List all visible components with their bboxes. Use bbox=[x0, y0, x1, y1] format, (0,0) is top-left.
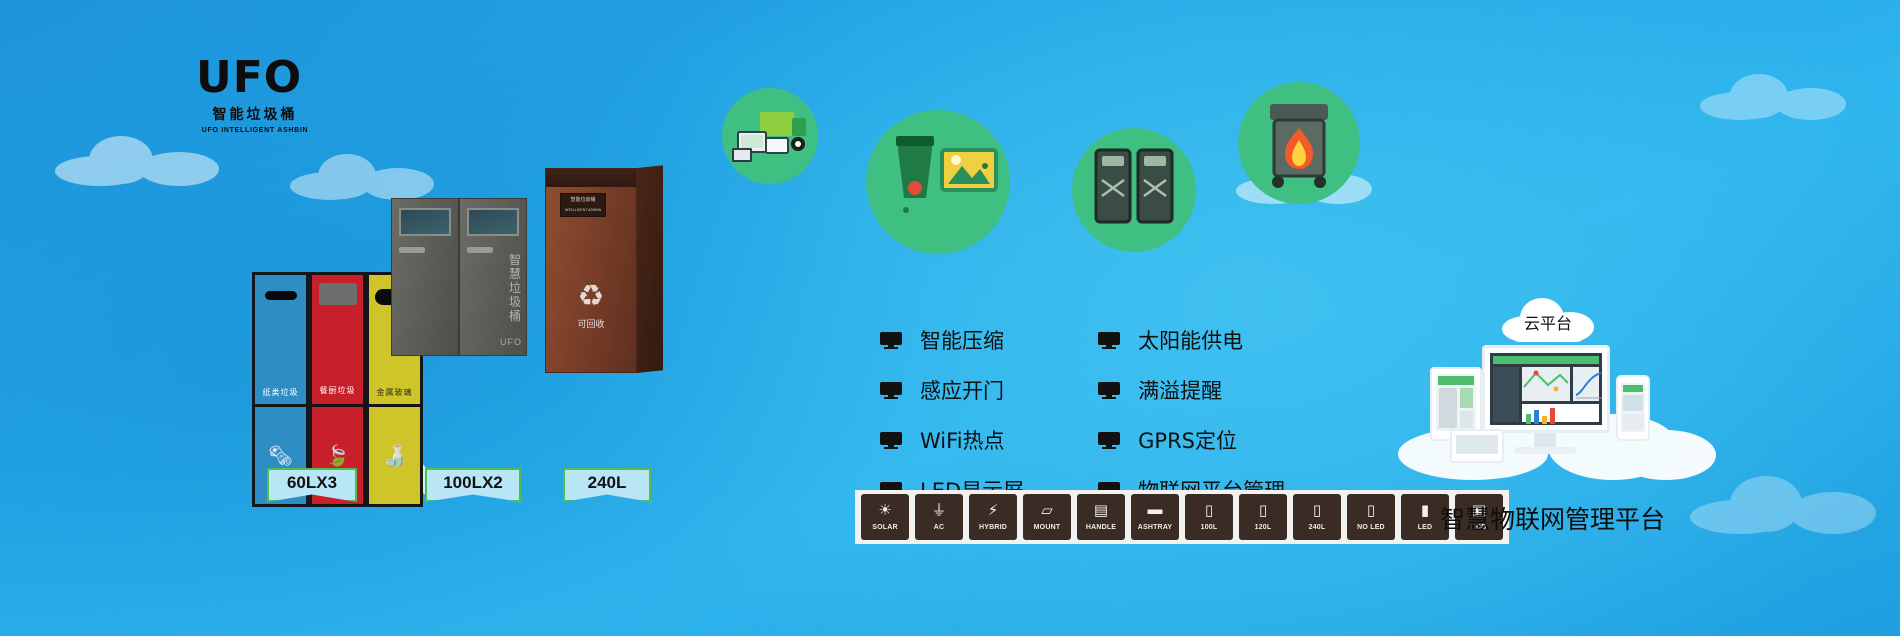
bin-body-metal-glass: 🍶 bbox=[366, 407, 423, 507]
bin-panel-label: 餐厨垃圾 bbox=[312, 385, 363, 396]
option-label: HANDLE bbox=[1086, 524, 1116, 531]
option-label: SOLAR bbox=[872, 524, 898, 531]
option-label: NO LED bbox=[1357, 524, 1385, 531]
metal-glass-icon: 🍶 bbox=[382, 443, 407, 468]
bin-unit-left bbox=[391, 198, 459, 356]
bolt-icon: ⚡ bbox=[976, 497, 1010, 522]
option-label: LED bbox=[1418, 524, 1433, 531]
bin-panel-label: 金属玻璃 bbox=[369, 387, 420, 398]
bin-gray-100lx2: 智慧垃圾桶 UFO bbox=[391, 198, 527, 356]
feature-circle-solar-compaction bbox=[866, 110, 1010, 254]
monitor-screen bbox=[1490, 353, 1602, 425]
bin-unit-right: 智慧垃圾桶 UFO bbox=[459, 198, 527, 356]
line-chart-thumbnail-icon bbox=[1573, 367, 1602, 401]
cloud-platform-badge: 云平台 bbox=[1502, 296, 1594, 342]
bin-vertical-label: 智慧垃圾桶 bbox=[508, 253, 522, 323]
bin-brand-mark: UFO bbox=[500, 337, 522, 347]
option-tile-ashtray[interactable]: ▬ ASHTRAY bbox=[1131, 494, 1179, 540]
bin-handle bbox=[467, 247, 493, 253]
option-tile-100l[interactable]: ▯ 100L bbox=[1185, 494, 1233, 540]
option-tile-solar[interactable]: ☀ SOLAR bbox=[861, 494, 909, 540]
monitor-icon bbox=[880, 432, 902, 449]
option-label: AC bbox=[934, 524, 945, 531]
feature-list: 智能压缩 感应开门 WiFi热点 LED显示屏 太阳能供电 满溢提醒 bbox=[880, 325, 1285, 505]
recycle-icon: ♻ bbox=[578, 279, 605, 314]
banner-stage: UFO 智能垃圾桶 UFO INTELLIGENT ASHBIN 纸类垃圾 🗞 … bbox=[0, 0, 1900, 636]
bin-100l-icon: ▯ bbox=[1192, 497, 1226, 522]
option-icon-strip: ☀ SOLAR ⏚ AC ⚡ HYBRID ▱ MOUNT ▤ HANDLE ▬… bbox=[855, 490, 1509, 544]
option-tile-no-led[interactable]: ▯ NO LED bbox=[1347, 494, 1395, 540]
no-led-icon: ▯ bbox=[1354, 497, 1388, 522]
bin-display-screen: 智能垃圾桶 INTELLIGENT ASHBIN bbox=[560, 193, 606, 217]
bin-body: 智能垃圾桶 INTELLIGENT ASHBIN ♻ 可回收 bbox=[545, 168, 637, 373]
screen-line-1: 智能垃圾桶 bbox=[561, 194, 605, 204]
logo-wordmark: UFO bbox=[196, 56, 302, 100]
sun-icon: ☀ bbox=[868, 497, 902, 522]
laptop-screen bbox=[1456, 435, 1498, 454]
brand-logo: UFO 智能垃圾桶 UFO INTELLIGENT ASHBIN bbox=[196, 56, 314, 148]
fire-bin-icon bbox=[1238, 82, 1360, 204]
feature-label: GPRS定位 bbox=[1138, 425, 1237, 455]
recycle-label: 可回收 bbox=[546, 317, 636, 330]
bin-panel-kitchen: 餐厨垃圾 bbox=[309, 272, 366, 407]
handle-icon: ▤ bbox=[1084, 497, 1118, 522]
option-label: ASHTRAY bbox=[1138, 524, 1173, 531]
platform-title: 智慧物联网管理平台 bbox=[1440, 500, 1665, 536]
monitor-icon bbox=[1098, 332, 1120, 349]
feature-column-left: 智能压缩 感应开门 WiFi热点 LED显示屏 bbox=[880, 325, 1024, 505]
laptop-bottom bbox=[1450, 429, 1504, 463]
monitor-icon bbox=[880, 382, 902, 399]
feature-item: 满溢提醒 bbox=[1098, 375, 1285, 405]
option-tile-120l[interactable]: ▯ 120L bbox=[1239, 494, 1287, 540]
monitor-icon bbox=[1098, 432, 1120, 449]
phone-right bbox=[1616, 375, 1650, 441]
bin-window bbox=[399, 208, 451, 236]
desktop-monitor bbox=[1482, 345, 1610, 433]
bin-lid bbox=[546, 169, 636, 187]
feature-label: 太阳能供电 bbox=[1138, 325, 1243, 355]
option-tile-hybrid[interactable]: ⚡ HYBRID bbox=[969, 494, 1017, 540]
phone-screen bbox=[1621, 383, 1645, 432]
feature-item: 感应开门 bbox=[880, 375, 1024, 405]
logo-english-name: UFO INTELLIGENT ASHBIN bbox=[196, 127, 314, 134]
option-tile-handle[interactable]: ▤ HANDLE bbox=[1077, 494, 1125, 540]
platform-devices-illustration bbox=[1430, 345, 1670, 475]
logo-chinese-name: 智能垃圾桶 bbox=[196, 104, 314, 124]
feature-circle-fleet-management bbox=[722, 88, 818, 184]
cloud-decoration bbox=[1700, 70, 1850, 124]
bin-brown-240l: 智能垃圾桶 INTELLIGENT ASHBIN ♻ 可回收 bbox=[545, 168, 637, 373]
feature-item: 智能压缩 bbox=[880, 325, 1024, 355]
feature-circle-fire-alarm bbox=[1238, 82, 1360, 204]
monitor-base bbox=[1514, 447, 1576, 454]
cloud-platform-label: 云平台 bbox=[1502, 310, 1594, 334]
solar-bin-icon bbox=[866, 110, 1010, 254]
feature-label: WiFi热点 bbox=[920, 425, 1005, 455]
feature-label: 感应开门 bbox=[920, 375, 1004, 405]
feature-item: WiFi热点 bbox=[880, 425, 1024, 455]
dual-bin-icon bbox=[1072, 128, 1196, 252]
led-icon: ▮ bbox=[1408, 497, 1442, 522]
plug-icon: ⏚ bbox=[922, 497, 956, 522]
mount-icon: ▱ bbox=[1030, 497, 1064, 522]
cloud-decoration bbox=[1690, 470, 1880, 536]
feature-column-right: 太阳能供电 满溢提醒 GPRS定位 物联网平台管理 bbox=[1098, 325, 1285, 505]
feature-label: 满溢提醒 bbox=[1138, 375, 1222, 405]
feature-item: GPRS定位 bbox=[1098, 425, 1285, 455]
option-label: 240L bbox=[1309, 524, 1326, 531]
capacity-ribbon-100lx2: 100LX2 bbox=[425, 468, 521, 502]
monitor-icon bbox=[880, 332, 902, 349]
option-tile-mount[interactable]: ▱ MOUNT bbox=[1023, 494, 1071, 540]
feature-item: 太阳能供电 bbox=[1098, 325, 1285, 355]
cloud-decoration bbox=[290, 150, 440, 204]
bin-handle bbox=[399, 247, 425, 253]
option-label: HYBRID bbox=[979, 524, 1007, 531]
feature-circle-dual-bin bbox=[1072, 128, 1196, 252]
option-tile-240l[interactable]: ▯ 240L bbox=[1293, 494, 1341, 540]
truck-devices-icon bbox=[722, 88, 818, 184]
bin-window bbox=[467, 208, 519, 236]
bin-120l-icon: ▯ bbox=[1246, 497, 1280, 522]
bin-panel-label: 纸类垃圾 bbox=[255, 387, 306, 398]
map-thumbnail-icon bbox=[1522, 367, 1570, 401]
kitchen-waste-icon: 🍃 bbox=[325, 443, 350, 468]
feature-label: 智能压缩 bbox=[920, 325, 1004, 355]
capacity-ribbon-240l: 240L bbox=[563, 468, 651, 502]
paper-waste-icon: 🗞 bbox=[268, 443, 293, 468]
monitor-icon bbox=[1098, 382, 1120, 399]
option-label: 120L bbox=[1255, 524, 1272, 531]
bin-panel-paper: 纸类垃圾 bbox=[252, 272, 309, 407]
ashtray-icon: ▬ bbox=[1138, 497, 1172, 522]
bin-side-panel bbox=[637, 165, 663, 373]
bar-chart-thumbnail-icon bbox=[1524, 406, 1564, 424]
tablet-left-screen bbox=[1436, 374, 1476, 431]
ribbon-label: 60LX3 bbox=[287, 473, 337, 493]
bin-240l-icon: ▯ bbox=[1300, 497, 1334, 522]
ribbon-label: 240L bbox=[588, 473, 627, 493]
option-label: MOUNT bbox=[1034, 524, 1061, 531]
option-tile-ac[interactable]: ⏚ AC bbox=[915, 494, 963, 540]
screen-line-2: INTELLIGENT ASHBIN bbox=[561, 204, 605, 214]
option-label: 100L bbox=[1201, 524, 1218, 531]
ribbon-label: 100LX2 bbox=[443, 473, 503, 493]
